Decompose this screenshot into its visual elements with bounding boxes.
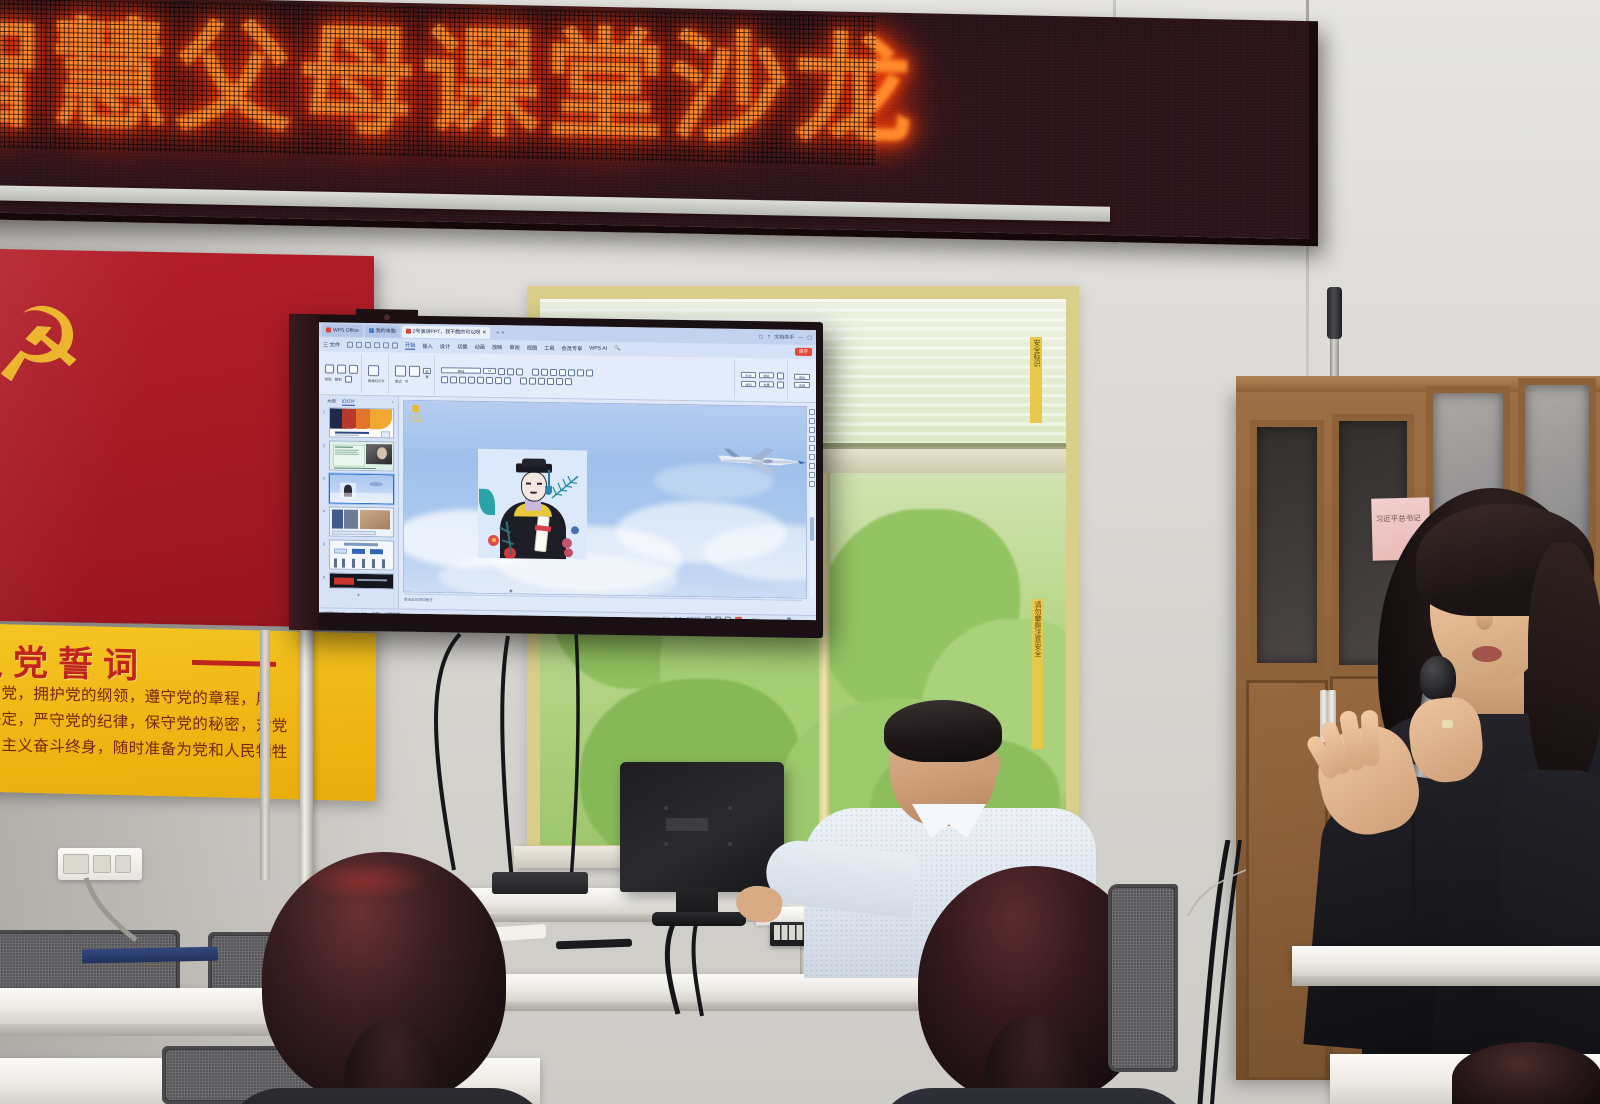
thumbnail-slide-6[interactable] bbox=[329, 572, 394, 589]
copy-icon bbox=[337, 364, 346, 373]
zoom-level-label: 75% bbox=[752, 618, 760, 620]
thumbnail-item[interactable]: 1 bbox=[323, 407, 394, 438]
thumbnail-slide-3-selected[interactable] bbox=[329, 473, 394, 504]
section-label: 节 bbox=[405, 378, 408, 383]
quick-access-toolbar bbox=[347, 342, 398, 349]
wps-mycomputer-tab-label: 我的电脑 bbox=[376, 327, 396, 334]
paste-icon bbox=[325, 364, 334, 373]
arrange-button[interactable]: 排列 bbox=[741, 381, 756, 387]
zoom-slider[interactable] bbox=[764, 619, 806, 620]
section-icon[interactable] bbox=[409, 365, 420, 376]
thumbnail-item[interactable]: 2 bbox=[323, 440, 394, 471]
mesh-back-chair-center[interactable] bbox=[1108, 884, 1178, 1072]
tv-bezel bbox=[289, 314, 319, 630]
columns-icon[interactable] bbox=[586, 369, 593, 376]
recording-button[interactable]: 演讲实录 bbox=[686, 617, 701, 621]
slides-tab[interactable]: 幻灯片 bbox=[342, 399, 355, 406]
ribbon-group-slide: 新建幻灯片 bbox=[365, 354, 389, 393]
wall-mounted-tv: WPS Office 我的电脑 2号演讲PPT，我干脆的可以呀 ✕ + ˅ ▢ bbox=[289, 314, 823, 638]
monitor-label bbox=[666, 818, 708, 831]
image-library-icon[interactable] bbox=[809, 436, 815, 442]
file-menu[interactable]: 三 文件 bbox=[323, 341, 340, 348]
wps-mycomputer-tab[interactable]: 我的电脑 bbox=[365, 324, 400, 337]
wps-ribbon: 粘贴 复制 新建幻灯片 重置 版式 bbox=[319, 351, 816, 403]
menu-start[interactable]: 开始 bbox=[405, 342, 415, 350]
save-icon[interactable] bbox=[347, 342, 353, 348]
wps-home-tab[interactable]: WPS Office bbox=[322, 324, 363, 337]
menu-member[interactable]: 会员专享 bbox=[562, 345, 583, 352]
new-tab-button[interactable]: + ˅ bbox=[492, 327, 508, 339]
zoom-minus-button[interactable]: − bbox=[746, 618, 748, 620]
reading-view-icon[interactable] bbox=[725, 617, 731, 620]
font-size-select[interactable]: 18 bbox=[483, 368, 496, 374]
preview-icon[interactable] bbox=[383, 342, 389, 348]
notes-button[interactable]: 备注 bbox=[674, 616, 682, 620]
find-button[interactable]: 查找 bbox=[794, 373, 810, 379]
align-right-icon[interactable] bbox=[538, 377, 545, 384]
zoom-plus-button[interactable]: + bbox=[810, 619, 812, 620]
reset-button[interactable]: 重置 bbox=[423, 368, 431, 374]
cloud-icon[interactable]: ▢ bbox=[759, 334, 764, 340]
desk-blue-nameplate bbox=[82, 947, 218, 964]
chevron-left-icon[interactable]: ‹ bbox=[392, 399, 393, 406]
font-grow-icon[interactable] bbox=[498, 368, 505, 375]
quick-style-icon[interactable] bbox=[777, 381, 784, 388]
ribbon-group-layout: 重置 版式 节 bbox=[392, 354, 435, 394]
paste-button[interactable] bbox=[325, 364, 334, 373]
sorter-view-icon[interactable] bbox=[715, 616, 721, 620]
slide-logo: 大学生涯 人生规划 bbox=[409, 405, 423, 423]
fern-icon bbox=[550, 474, 580, 500]
outline-icon[interactable] bbox=[777, 372, 784, 379]
speaker-mouth bbox=[1472, 646, 1502, 662]
save-button[interactable]: 保存 bbox=[795, 348, 812, 356]
convert-smartart-icon[interactable] bbox=[565, 378, 572, 385]
bold-icon[interactable] bbox=[441, 376, 448, 383]
close-icon[interactable]: ✕ bbox=[482, 329, 486, 335]
slide-logo-text: 大学生涯 人生规划 bbox=[409, 415, 423, 423]
redo-icon[interactable] bbox=[374, 342, 380, 348]
new-slide-label: 新建幻灯片 bbox=[368, 378, 385, 383]
menu-view[interactable]: 视图 bbox=[527, 344, 537, 351]
side-table bbox=[1292, 946, 1600, 976]
menu-wps-ai[interactable]: WPS AI bbox=[589, 346, 607, 352]
add-slide-button[interactable]: + bbox=[323, 591, 394, 599]
thumbnail-slide-5[interactable] bbox=[329, 539, 394, 570]
ppt-icon bbox=[406, 329, 411, 334]
outline-tab[interactable]: 大纲 bbox=[327, 398, 336, 405]
new-slide-icon[interactable] bbox=[368, 365, 379, 376]
more-icon[interactable] bbox=[392, 342, 398, 348]
thumbnail-item[interactable]: 6 bbox=[323, 572, 394, 589]
fill-button[interactable]: 填充 bbox=[759, 372, 774, 378]
align-center-icon[interactable] bbox=[529, 377, 536, 384]
ribbon-group-drawing: 形状 填充 排列 效果 bbox=[738, 360, 788, 400]
spellcheck-label[interactable]: 拼写检查 bbox=[385, 612, 400, 617]
font-name-select[interactable]: 等线 bbox=[441, 367, 481, 374]
audience-member-front-left bbox=[262, 852, 506, 1104]
copy-label: 复制 bbox=[335, 376, 342, 381]
thumbnail-number: 3 bbox=[323, 473, 327, 480]
power-strip bbox=[492, 872, 588, 894]
graduate-illustration[interactable] bbox=[478, 449, 587, 560]
ribbon-group-font: 等线 18 bbox=[438, 355, 735, 399]
audience-member-bottom-right bbox=[1452, 1042, 1600, 1104]
chart-library-icon[interactable] bbox=[809, 445, 815, 451]
tv-support-pole bbox=[260, 630, 270, 880]
new-tab-label: + bbox=[496, 330, 499, 336]
wps-document-tab[interactable]: 2号演讲PPT，我干脆的可以呀 ✕ bbox=[402, 325, 491, 338]
font-shrink-icon[interactable] bbox=[507, 368, 514, 375]
menu-insert[interactable]: 插入 bbox=[422, 342, 432, 349]
slide-canvas[interactable]: 大学生涯 人生规划 bbox=[404, 401, 806, 598]
template-icon[interactable] bbox=[809, 463, 815, 469]
assistant-label[interactable]: 文档助手 bbox=[774, 333, 794, 340]
menu-review[interactable]: 审阅 bbox=[509, 344, 519, 351]
monitor-cables bbox=[640, 918, 780, 1018]
thumbnail-item[interactable]: 5 bbox=[323, 539, 394, 570]
logo-mark-icon bbox=[412, 405, 419, 414]
layout-label: 版式 bbox=[395, 378, 402, 383]
thumbnail-slide-2[interactable] bbox=[329, 440, 394, 471]
pole-grip bbox=[1327, 287, 1342, 339]
line-spacing-icon[interactable] bbox=[568, 369, 575, 376]
cabinet-glass-pane-1 bbox=[1250, 420, 1324, 670]
text-highlight-icon[interactable] bbox=[495, 377, 502, 384]
align-left-icon[interactable] bbox=[520, 377, 527, 384]
undo-icon[interactable] bbox=[365, 342, 371, 348]
thumbnail-number: 1 bbox=[323, 407, 327, 414]
thumbnail-number: 6 bbox=[323, 572, 327, 579]
underline-icon[interactable] bbox=[459, 376, 466, 383]
office-theme-label[interactable]: WPS Office 主题 bbox=[351, 611, 379, 616]
party-oath-board: 入党誓词 入中国共产党，拥护党的纲领，遵守党的章程，履 执行党的决定，严守党的纪… bbox=[0, 623, 376, 802]
help-icon[interactable]: ? bbox=[767, 334, 770, 340]
decrease-indent-icon[interactable] bbox=[550, 368, 557, 375]
char-spacing-icon[interactable] bbox=[486, 376, 493, 383]
audience-hair bbox=[1452, 1042, 1600, 1104]
side-table-edge bbox=[1292, 976, 1600, 986]
oath-body-text: 入中国共产党，拥护党的纲领，遵守党的章程，履 执行党的决定，严守党的纪律，保守党… bbox=[0, 678, 342, 792]
menu-transitions[interactable]: 切换 bbox=[457, 343, 467, 350]
clear-format-icon[interactable] bbox=[516, 368, 523, 375]
copy-button[interactable] bbox=[337, 364, 346, 373]
thumbnail-number: 2 bbox=[323, 440, 327, 447]
paste-label: 粘贴 bbox=[325, 376, 332, 381]
speaker-hair-side bbox=[1528, 542, 1600, 792]
status-right: 批注 备注 演讲实录 − 75% + bbox=[663, 616, 812, 620]
text-box-icon[interactable] bbox=[809, 472, 815, 478]
thumbnail-slide-4[interactable] bbox=[329, 506, 394, 537]
led-banner-text: 智慧父母课堂沙龙 bbox=[0, 0, 876, 166]
menu-animation[interactable]: 动画 bbox=[475, 343, 485, 350]
maximize-button[interactable]: ▢ bbox=[807, 334, 812, 340]
align-justify-icon[interactable] bbox=[547, 377, 554, 384]
format-painter-icon[interactable] bbox=[345, 375, 352, 382]
ribbon-group-clipboard: 粘贴 复制 bbox=[322, 353, 362, 393]
text-direction-icon[interactable] bbox=[577, 369, 584, 376]
italic-icon[interactable] bbox=[450, 376, 457, 383]
cut-icon bbox=[349, 364, 358, 373]
increase-indent-icon[interactable] bbox=[559, 369, 566, 376]
slide-thumbnails-pane: 大纲 幻灯片 ‹ 1 bbox=[319, 395, 399, 608]
minimize-button[interactable]: — bbox=[798, 334, 803, 340]
thumbnail-number: 4 bbox=[323, 506, 327, 513]
shape-button[interactable]: 形状 bbox=[741, 372, 756, 378]
search-icon[interactable]: 🔍 bbox=[614, 346, 620, 352]
audience-hair-highlight bbox=[302, 860, 428, 900]
slide-counter: 幻灯片 3 / 45 bbox=[323, 611, 345, 616]
print-icon[interactable] bbox=[356, 342, 362, 348]
tv-screen-content: WPS Office 我的电脑 2号演讲PPT，我干脆的可以呀 ✕ + ˅ ▢ bbox=[319, 322, 816, 620]
shape-library-icon[interactable] bbox=[809, 427, 815, 433]
wps-home-tab-label: WPS Office bbox=[333, 327, 359, 333]
audience-shoulders bbox=[874, 1088, 1194, 1104]
number-list-icon[interactable] bbox=[541, 368, 548, 375]
zoom-fit-icon[interactable] bbox=[809, 409, 815, 415]
wps-workspace: 大纲 幻灯片 ‹ 1 bbox=[319, 395, 816, 615]
microphone-head[interactable] bbox=[1420, 656, 1456, 700]
slide-editor-pane: 大学生涯 人生规划 bbox=[399, 397, 816, 616]
speaker-arm-left bbox=[1303, 795, 1452, 1055]
speaker-arm-right bbox=[1498, 770, 1600, 1070]
bullet-list-icon[interactable] bbox=[532, 368, 539, 375]
thumbnail-item[interactable]: 3 bbox=[323, 473, 394, 504]
thumbnail-number: 5 bbox=[323, 539, 327, 546]
wps-logo-icon bbox=[326, 327, 331, 332]
icon-library-icon[interactable] bbox=[809, 454, 815, 460]
doc-icon bbox=[369, 328, 374, 333]
desktop-monitor-back bbox=[620, 762, 784, 892]
thumbnail-slide-1[interactable] bbox=[329, 407, 394, 438]
effects-button[interactable]: 效果 bbox=[759, 381, 774, 387]
wps-titlebar-controls: ▢ ? 文档助手 — ▢ bbox=[759, 333, 816, 341]
smart-align-icon[interactable] bbox=[556, 377, 563, 384]
airplane-photo[interactable] bbox=[714, 445, 806, 477]
normal-view-icon[interactable] bbox=[705, 616, 711, 620]
chevron-down-icon[interactable]: ˅ bbox=[501, 330, 504, 336]
help-circle-icon[interactable] bbox=[809, 481, 815, 487]
man-hair bbox=[884, 700, 1002, 762]
menu-slideshow[interactable]: 放映 bbox=[492, 343, 502, 350]
wall-cables bbox=[1186, 840, 1256, 1104]
strikethrough-icon[interactable] bbox=[468, 376, 475, 383]
cut-button[interactable] bbox=[349, 364, 358, 373]
slide-side-toolbar bbox=[807, 407, 816, 487]
comments-button[interactable]: 批注 bbox=[663, 616, 671, 620]
speaker-finger-ring bbox=[1442, 720, 1453, 728]
outlet-cable bbox=[80, 876, 150, 946]
ribbon-group-editing: 查找 选择 bbox=[791, 361, 813, 400]
menu-tools[interactable]: 工具 bbox=[544, 344, 554, 351]
font-color-icon[interactable] bbox=[504, 377, 511, 384]
shadow-text-icon[interactable] bbox=[477, 376, 484, 383]
wps-document-tab-label: 2号演讲PPT，我干脆的可以呀 bbox=[413, 328, 481, 336]
thumbnails-list[interactable]: 1 bbox=[321, 407, 396, 606]
select-button[interactable]: 选择 bbox=[794, 381, 810, 387]
thumbnail-item[interactable]: 4 bbox=[323, 506, 394, 537]
menu-design[interactable]: 设计 bbox=[440, 343, 450, 350]
speaker-woman bbox=[1320, 470, 1600, 1104]
party-emblem-icon: ☭ bbox=[0, 293, 52, 406]
audience-shoulders bbox=[222, 1088, 552, 1104]
layout-icon[interactable] bbox=[395, 365, 406, 376]
design-ideas-icon[interactable] bbox=[809, 418, 815, 424]
slideshow-icon[interactable] bbox=[735, 617, 742, 620]
classroom-scene: 智慧父母课堂沙龙 ☭ 入党誓词 入中国共产党，拥护党的纲领，遵守党的章程，履 执… bbox=[0, 0, 1600, 1104]
